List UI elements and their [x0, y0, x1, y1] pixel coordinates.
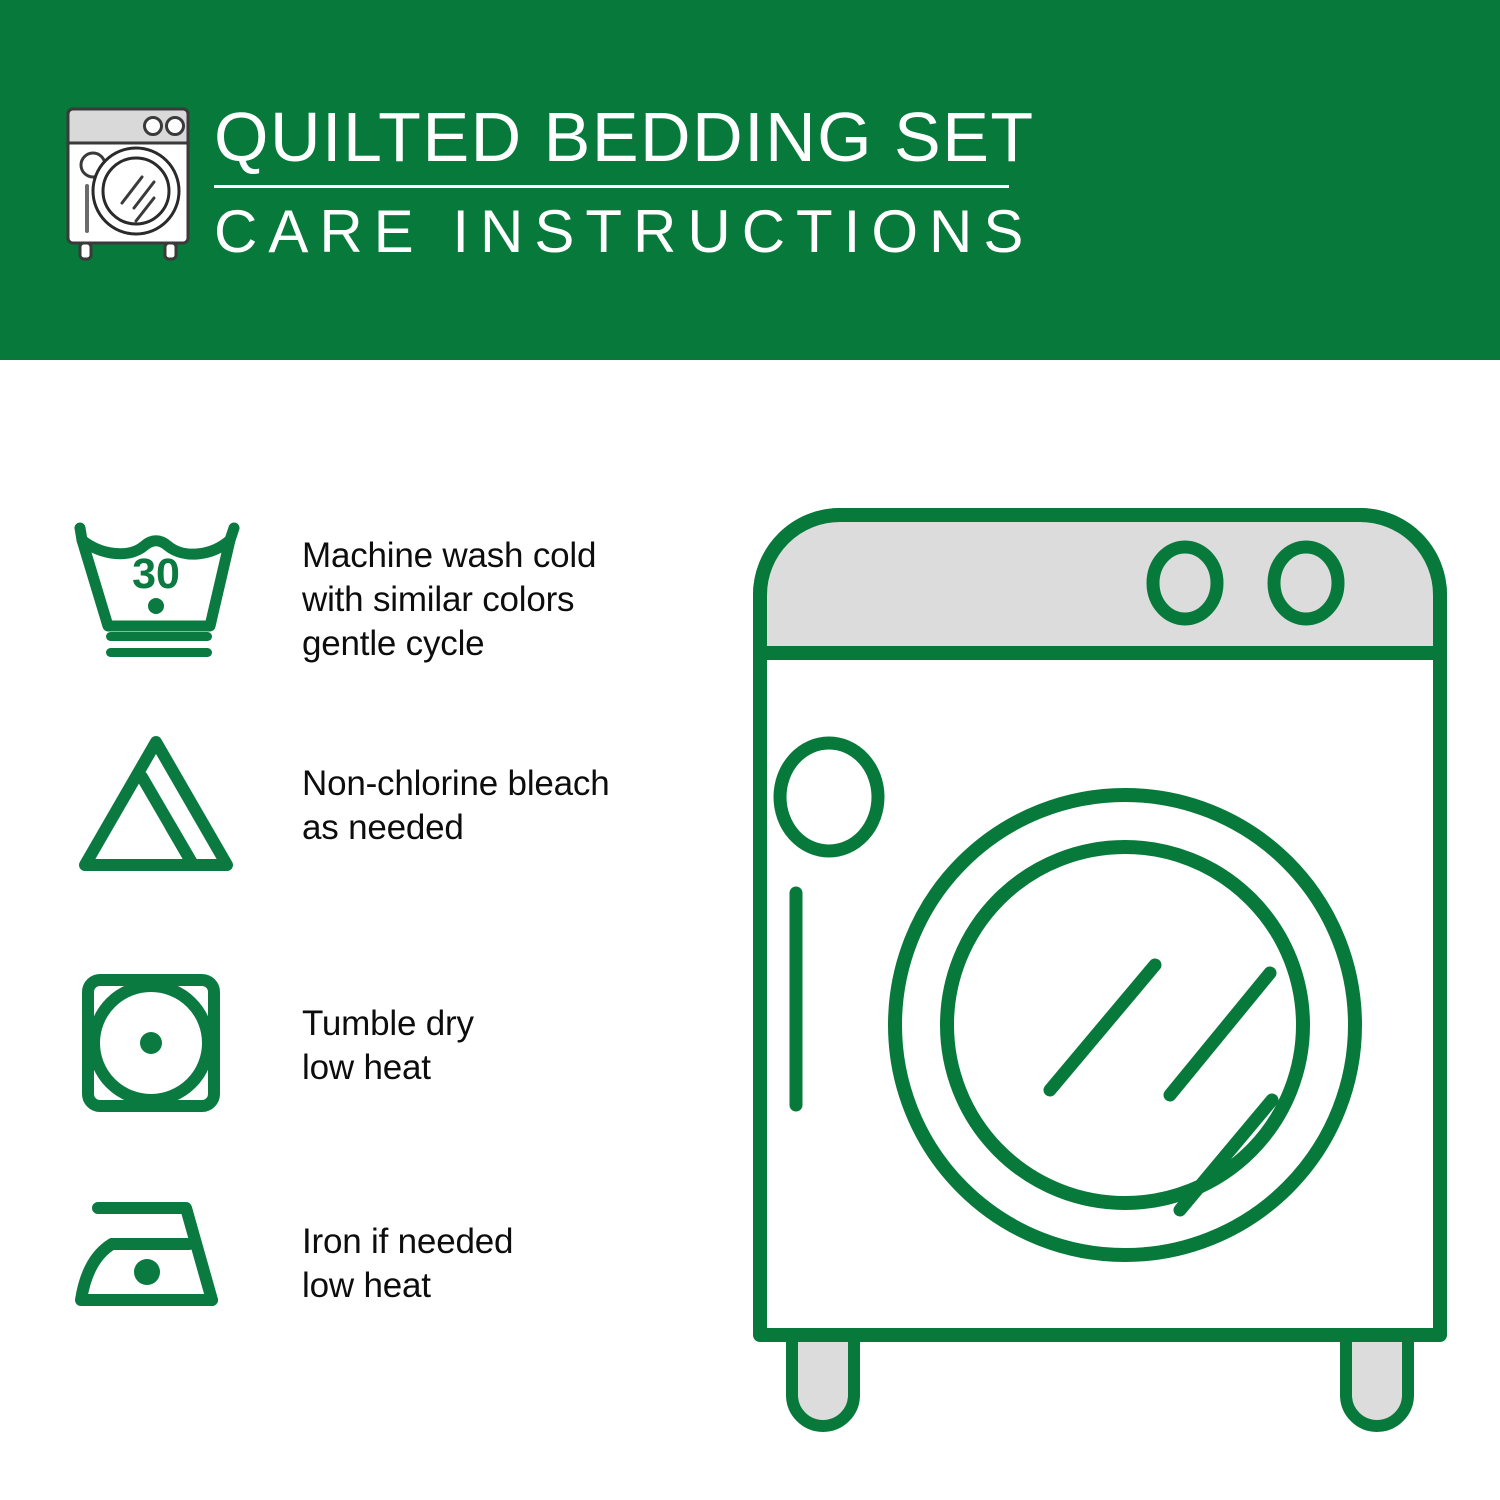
tumble-dry-low-heat-icon: [72, 972, 222, 1122]
iron-low-heat-icon: [72, 1192, 222, 1342]
title-divider: [214, 185, 1009, 188]
door-inner-ring: [947, 847, 1303, 1203]
care-instruction-item: Tumble dry low heat: [72, 972, 712, 1122]
page-title: QUILTED BEDDING SET: [214, 98, 1014, 176]
header-band: QUILTED BEDDING SET CARE INSTRUCTIONS: [0, 0, 1500, 360]
care-instruction-text: Tumble dry low heat: [302, 972, 474, 1090]
front-load-washing-machine: [740, 495, 1460, 1455]
care-instruction-text: Machine wash cold with similar colors ge…: [302, 518, 596, 666]
care-instruction-item: 30 Machine wash cold with similar colors…: [72, 518, 712, 668]
knob-right: [1274, 547, 1338, 619]
non-chlorine-bleach-triangle-icon: [72, 730, 222, 880]
page-subtitle: CARE INSTRUCTIONS: [214, 198, 1014, 266]
care-instruction-list: 30 Machine wash cold with similar colors…: [0, 360, 720, 1500]
care-instruction-text: Non-chlorine bleach as needed: [302, 730, 610, 850]
care-instruction-item: Non-chlorine bleach as needed: [72, 730, 712, 880]
small-circle-dial: [780, 743, 878, 851]
machine-wash-30-gentle-icon: 30: [72, 518, 222, 668]
care-instruction-text: Iron if needed low heat: [302, 1192, 513, 1308]
knob-left: [1153, 547, 1217, 619]
care-instructions-infographic: QUILTED BEDDING SET CARE INSTRUCTIONS 30: [0, 0, 1500, 1500]
header-text-block: QUILTED BEDDING SET CARE INSTRUCTIONS: [214, 98, 1014, 266]
care-instruction-item: Iron if needed low heat: [72, 1192, 712, 1342]
washing-machine-icon: [62, 103, 194, 263]
wash-temperature-label: 30: [132, 550, 180, 598]
